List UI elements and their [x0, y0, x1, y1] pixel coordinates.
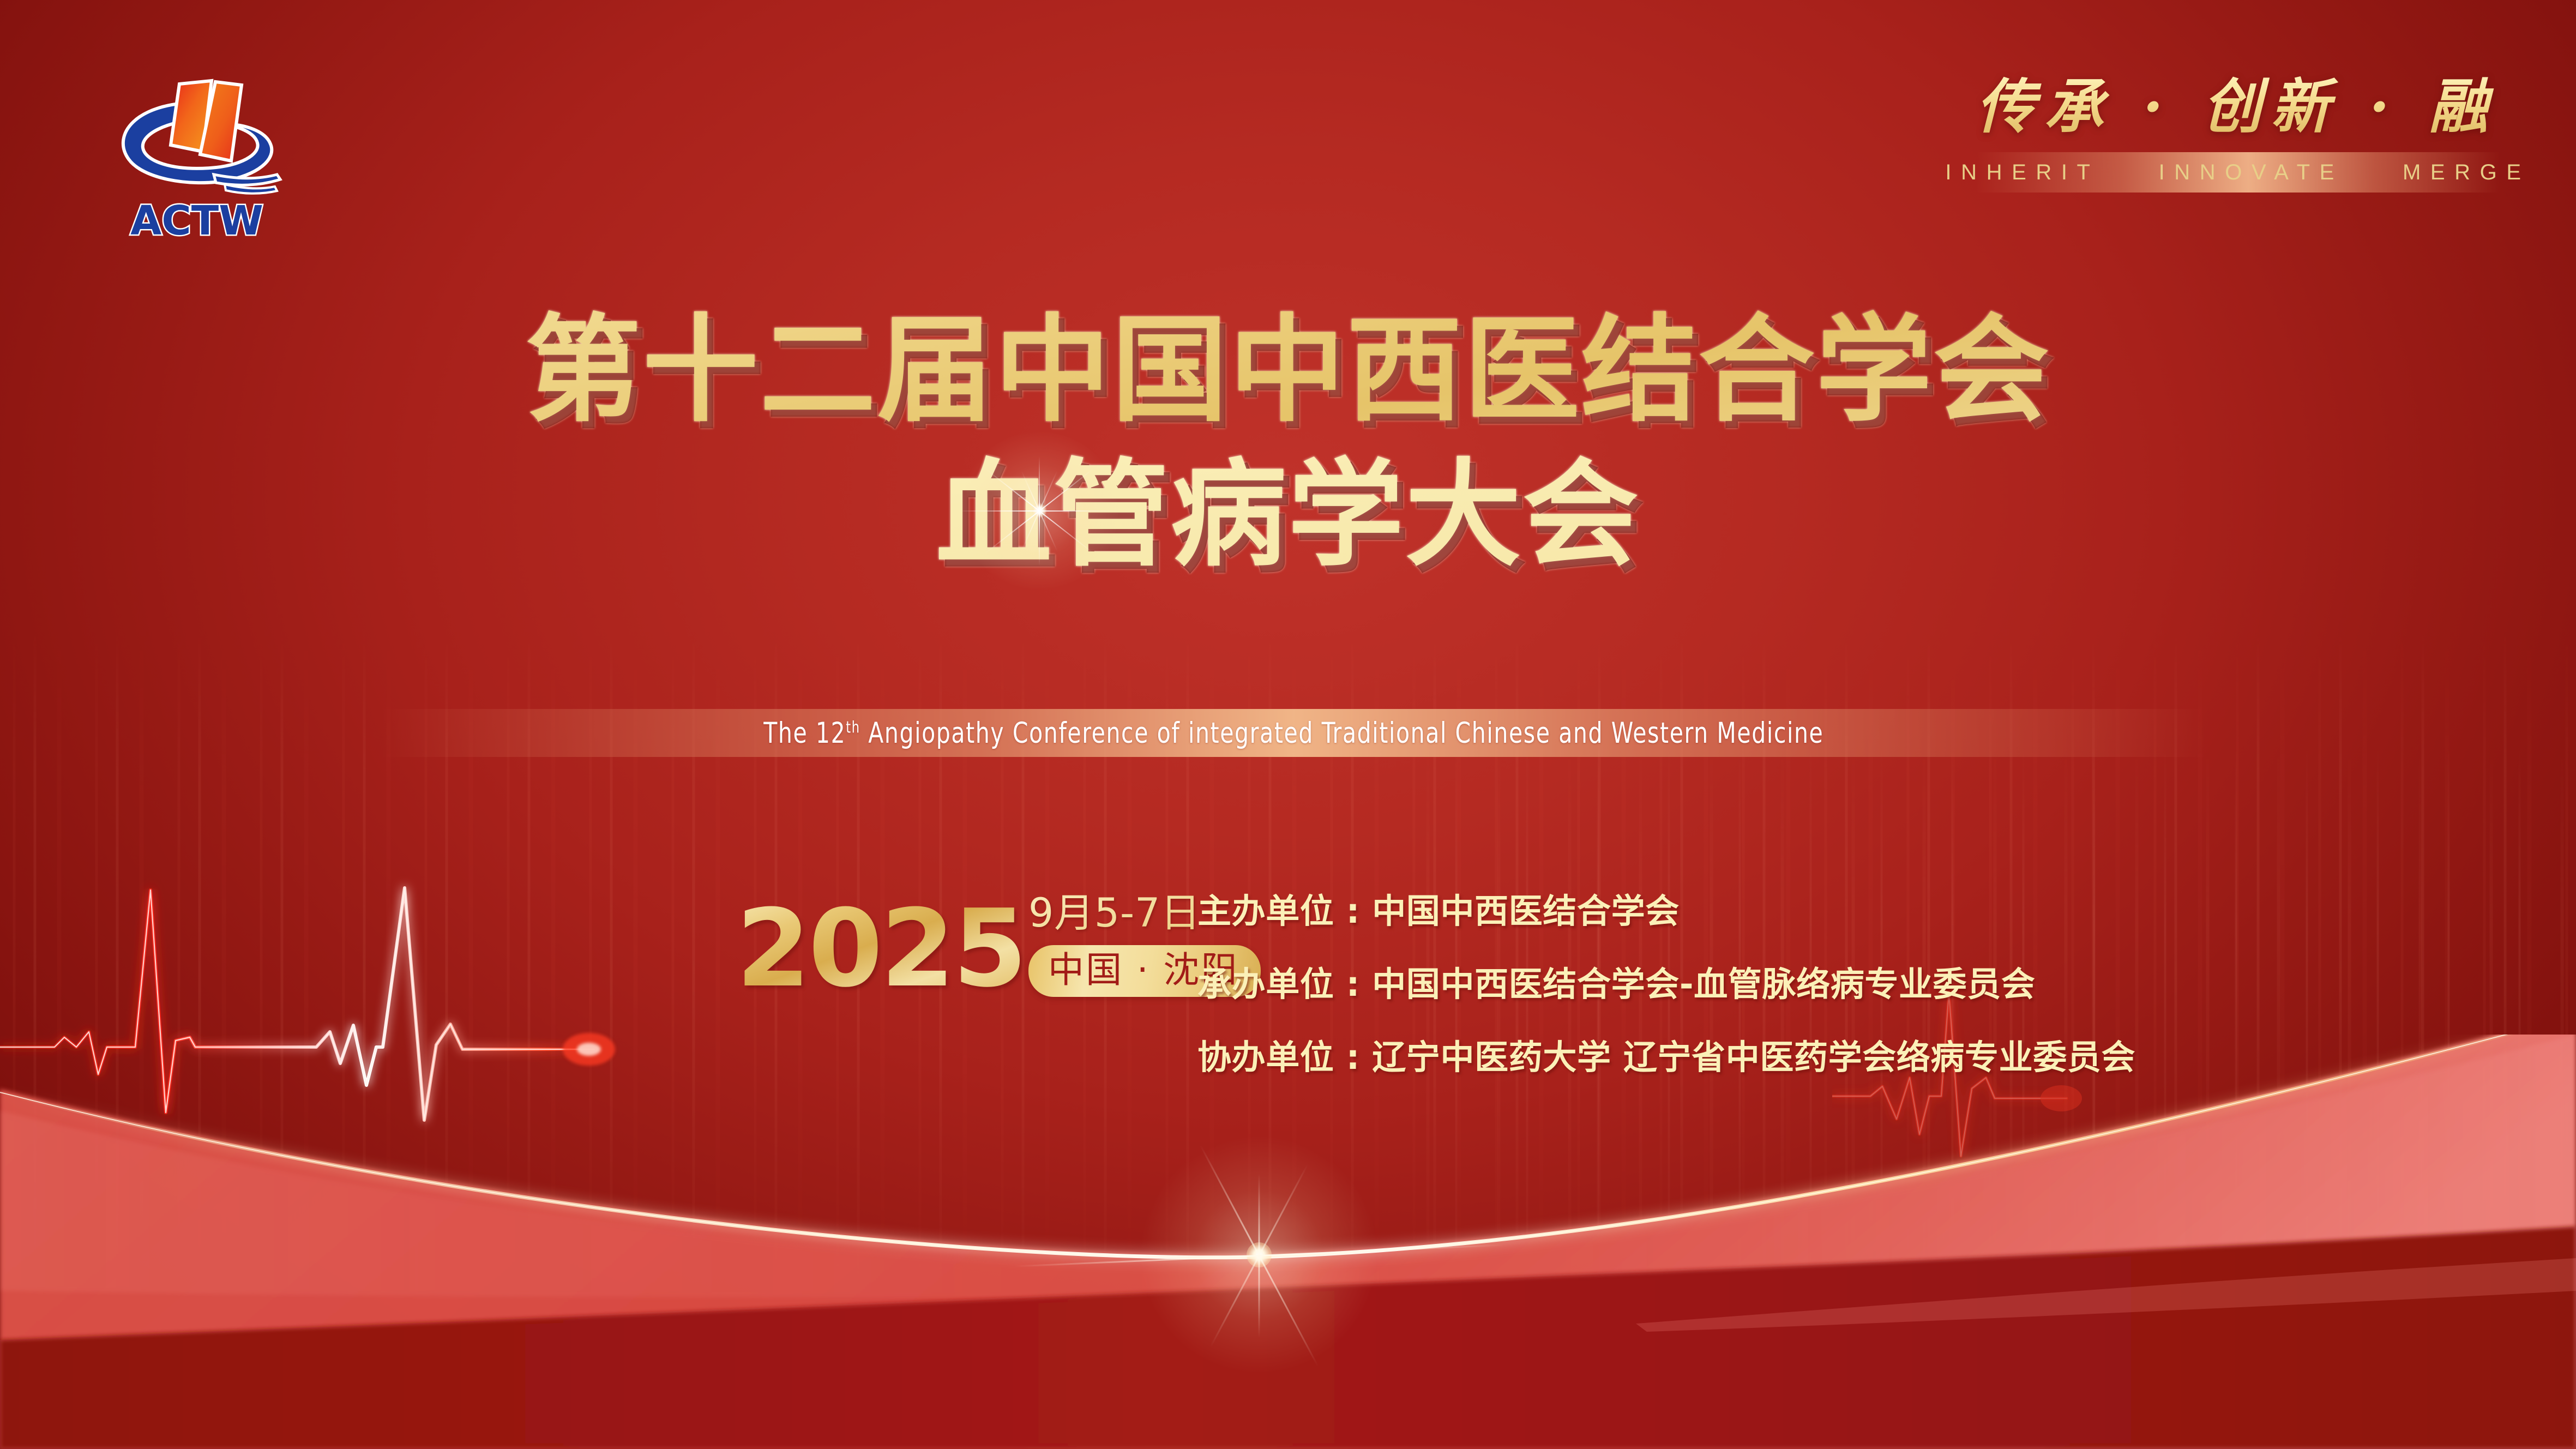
bottom-ribbon-wave [0, 1035, 2576, 1449]
slogan-english: INHERIT INNOVATE MERGE [1945, 160, 2530, 185]
actw-logo[interactable]: ACTW [107, 44, 287, 245]
subtitle-text: The 12th Angiopathy Conference of integr… [763, 717, 1823, 750]
logo-orange-bars [171, 81, 242, 161]
subtitle-band: The 12th Angiopathy Conference of integr… [382, 709, 2205, 757]
ecg-heartbeat-waveform [0, 829, 687, 1134]
conference-banner: ACTW 传承 · 创新 · 融合 INHERIT INNOVATE MERGE… [0, 0, 2576, 1449]
slogan-word-innovate: INNOVATE [2159, 160, 2344, 185]
event-date-block: 2025 9月5-7日 中国 · 沈阳 [736, 881, 1261, 1000]
organizer-undertaker: 承办单位 : 中国中西医结合学会-血管脉络病专业委员会 [1197, 957, 2135, 1006]
slogan-chinese: 传承 · 创新 · 融合 [1976, 76, 2500, 138]
subtitle-rest: Angiopathy Conference of integrated Trad… [860, 717, 1823, 750]
slogan-block: 传承 · 创新 · 融合 INHERIT INNOVATE MERGE [1976, 76, 2500, 193]
organizer-host: 主办单位 : 中国中西医结合学会 [1197, 883, 2135, 933]
title-line-1: 第十二届中国中西医结合学会 [0, 305, 2576, 435]
lens-flare-star [1259, 1254, 1259, 1255]
main-title: 第十二届中国中西医结合学会 血管病学大会 [0, 305, 2576, 584]
subtitle-ordinal: th [846, 718, 860, 736]
subtitle-prefix: The 12 [763, 717, 846, 750]
logo-wordmark: ACTW [130, 197, 263, 244]
organizers-block: 主办单位 : 中国中西医结合学会 承办单位 : 中国中西医结合学会-血管脉络病专… [1197, 883, 2135, 1079]
event-year: 2025 [736, 898, 1025, 1000]
slogan-word-merge: MERGE [2403, 160, 2531, 185]
organizer-coorganizer: 协办单位 : 辽宁中医药大学 辽宁省中医药学会络病专业委员会 [1197, 1030, 2135, 1079]
title-line-2: 血管病学大会 [0, 447, 2576, 583]
slogan-english-bar: INHERIT INNOVATE MERGE [1976, 152, 2500, 193]
slogan-word-inherit: INHERIT [1945, 160, 2099, 185]
